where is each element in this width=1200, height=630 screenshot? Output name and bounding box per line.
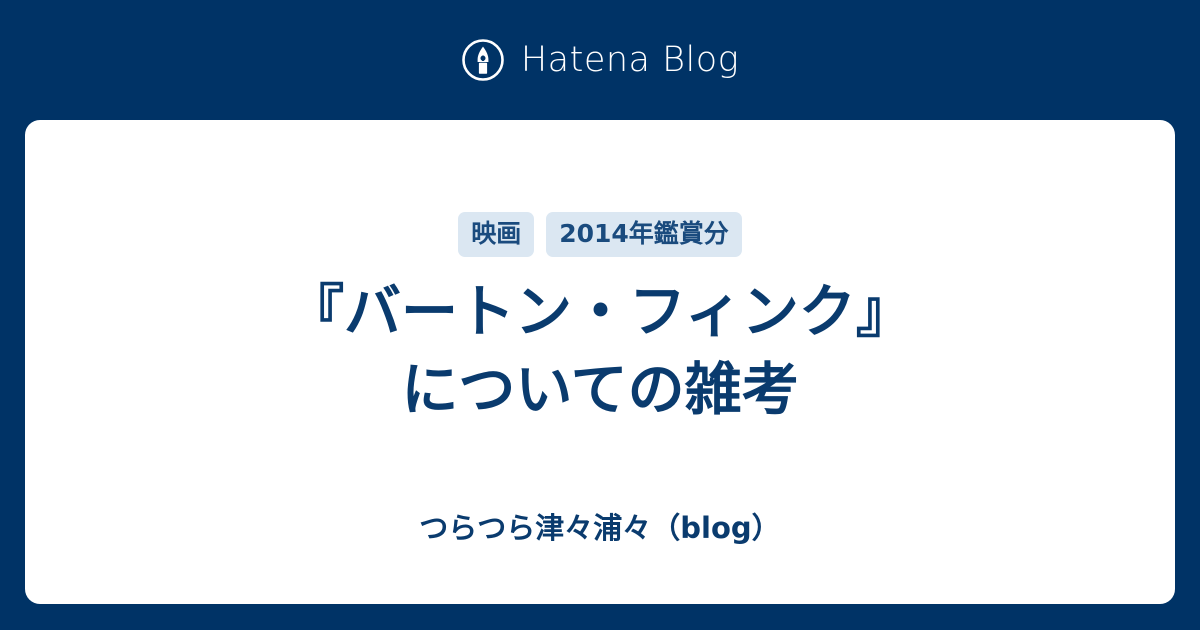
entry-card: 映画 2014年鑑賞分 『バートン・フィンク』についての雑考 つらつら津々浦々（… bbox=[25, 120, 1175, 604]
tag-item[interactable]: 映画 bbox=[458, 212, 534, 257]
tag-list: 映画 2014年鑑賞分 bbox=[458, 212, 742, 257]
hatena-blog-logo-icon bbox=[461, 38, 505, 82]
service-name-label: Hatena Blog bbox=[521, 43, 739, 78]
blog-name-label: つらつら津々浦々（blog） bbox=[25, 511, 1175, 546]
site-header: Hatena Blog bbox=[0, 0, 1200, 120]
tag-item[interactable]: 2014年鑑賞分 bbox=[546, 212, 742, 257]
entry-title: 『バートン・フィンク』についての雑考 bbox=[260, 274, 940, 429]
